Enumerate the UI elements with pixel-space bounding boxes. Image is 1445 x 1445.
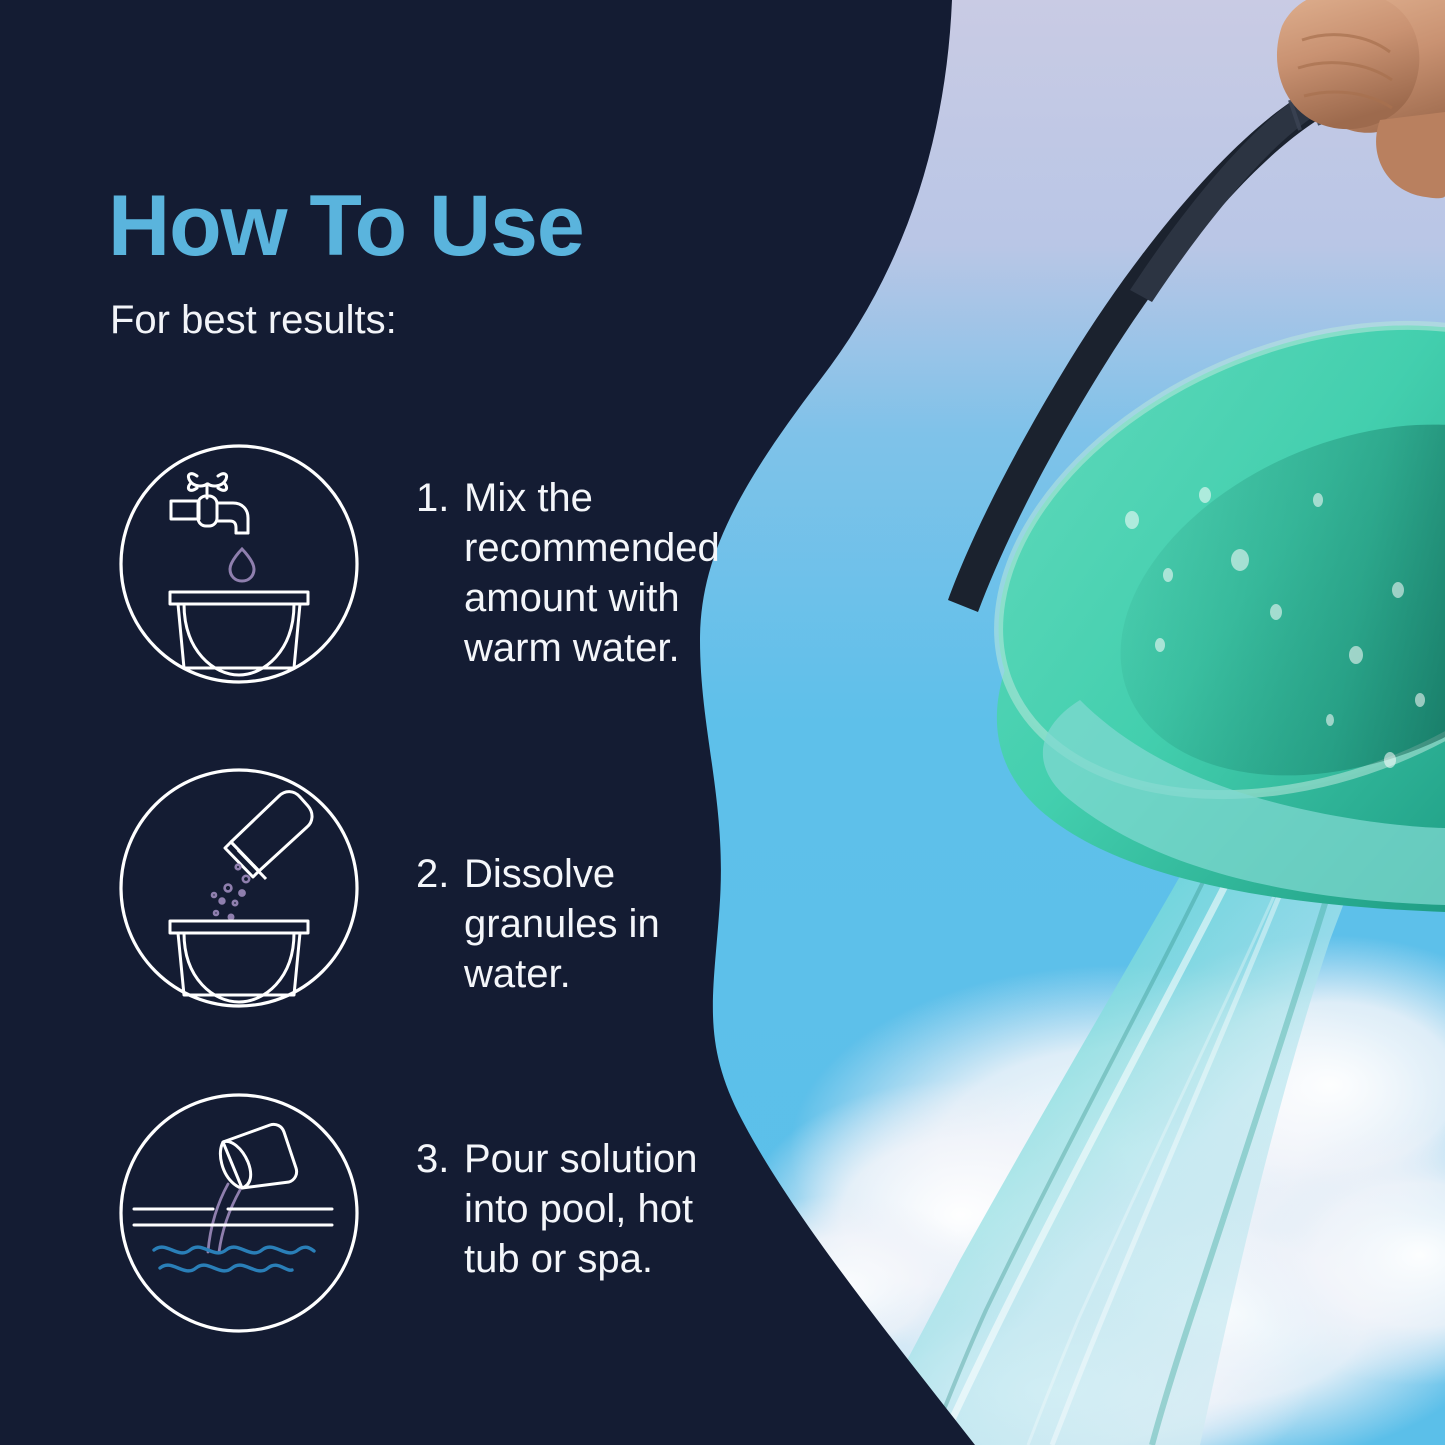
- step-number: 3.: [416, 1134, 464, 1284]
- step-item: 1. Mix the recommended amount with warm …: [0, 443, 760, 683]
- step-label: Dissolve granules in water.: [464, 849, 716, 999]
- step-number: 2.: [416, 849, 464, 999]
- subtitle: For best results:: [110, 300, 397, 340]
- instructions-panel: How To Use For best results:: [0, 0, 760, 1445]
- step-label: Mix the recommended amount with warm wat…: [464, 473, 720, 673]
- step-label: Pour solution into pool, hot tub or spa.: [464, 1134, 716, 1284]
- granules-bucket-icon: [118, 767, 360, 1009]
- how-to-use-poster: How To Use For best results:: [0, 0, 1445, 1445]
- faucet-bucket-icon: [118, 443, 360, 685]
- step-text: 3. Pour solution into pool, hot tub or s…: [416, 1134, 716, 1284]
- pour-into-pool-icon: [118, 1092, 360, 1334]
- step-text: 2. Dissolve granules in water.: [416, 849, 716, 999]
- page-title: How To Use: [108, 183, 584, 269]
- step-number: 1.: [416, 473, 464, 673]
- step-text: 1. Mix the recommended amount with warm …: [416, 473, 716, 673]
- step-item: 3. Pour solution into pool, hot tub or s…: [0, 1092, 760, 1332]
- step-item: 2. Dissolve granules in water.: [0, 767, 760, 1007]
